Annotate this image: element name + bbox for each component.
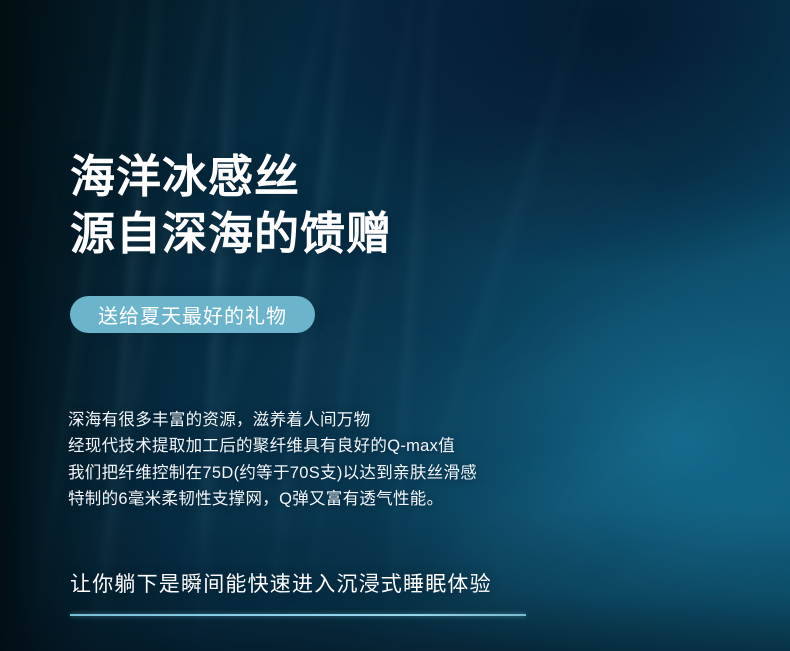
body-line-1: 深海有很多丰富的资源，滋养着人间万物 bbox=[68, 407, 477, 434]
tagline-text: 让你躺下是瞬间能快速进入沉浸式睡眠体验 bbox=[70, 568, 492, 598]
divider-line bbox=[70, 614, 526, 616]
headline-line-1: 海洋冰感丝 bbox=[70, 148, 392, 205]
body-line-2: 经现代技术提取加工后的聚纤维具有良好的Q-max值 bbox=[68, 433, 477, 460]
body-line-4: 特制的6毫米柔韧性支撑网，Q弹又富有透气性能。 bbox=[68, 486, 477, 513]
banner-content: 海洋冰感丝 源自深海的馈赠 送给夏天最好的礼物 深海有很多丰富的资源，滋养着人间… bbox=[0, 0, 790, 651]
ocean-ice-silk-banner: 海洋冰感丝 源自深海的馈赠 送给夏天最好的礼物 深海有很多丰富的资源，滋养着人间… bbox=[0, 0, 790, 651]
body-paragraph: 深海有很多丰富的资源，滋养着人间万物 经现代技术提取加工后的聚纤维具有良好的Q-… bbox=[68, 407, 477, 513]
gift-badge-button[interactable]: 送给夏天最好的礼物 bbox=[70, 296, 315, 333]
gift-badge-label: 送给夏天最好的礼物 bbox=[98, 300, 287, 329]
body-line-3: 我们把纤维控制在75D(约等于70S支)以达到亲肤丝滑感 bbox=[68, 460, 477, 487]
headline-line-2: 源自深海的馈赠 bbox=[70, 205, 392, 262]
page-title: 海洋冰感丝 源自深海的馈赠 bbox=[70, 148, 392, 262]
